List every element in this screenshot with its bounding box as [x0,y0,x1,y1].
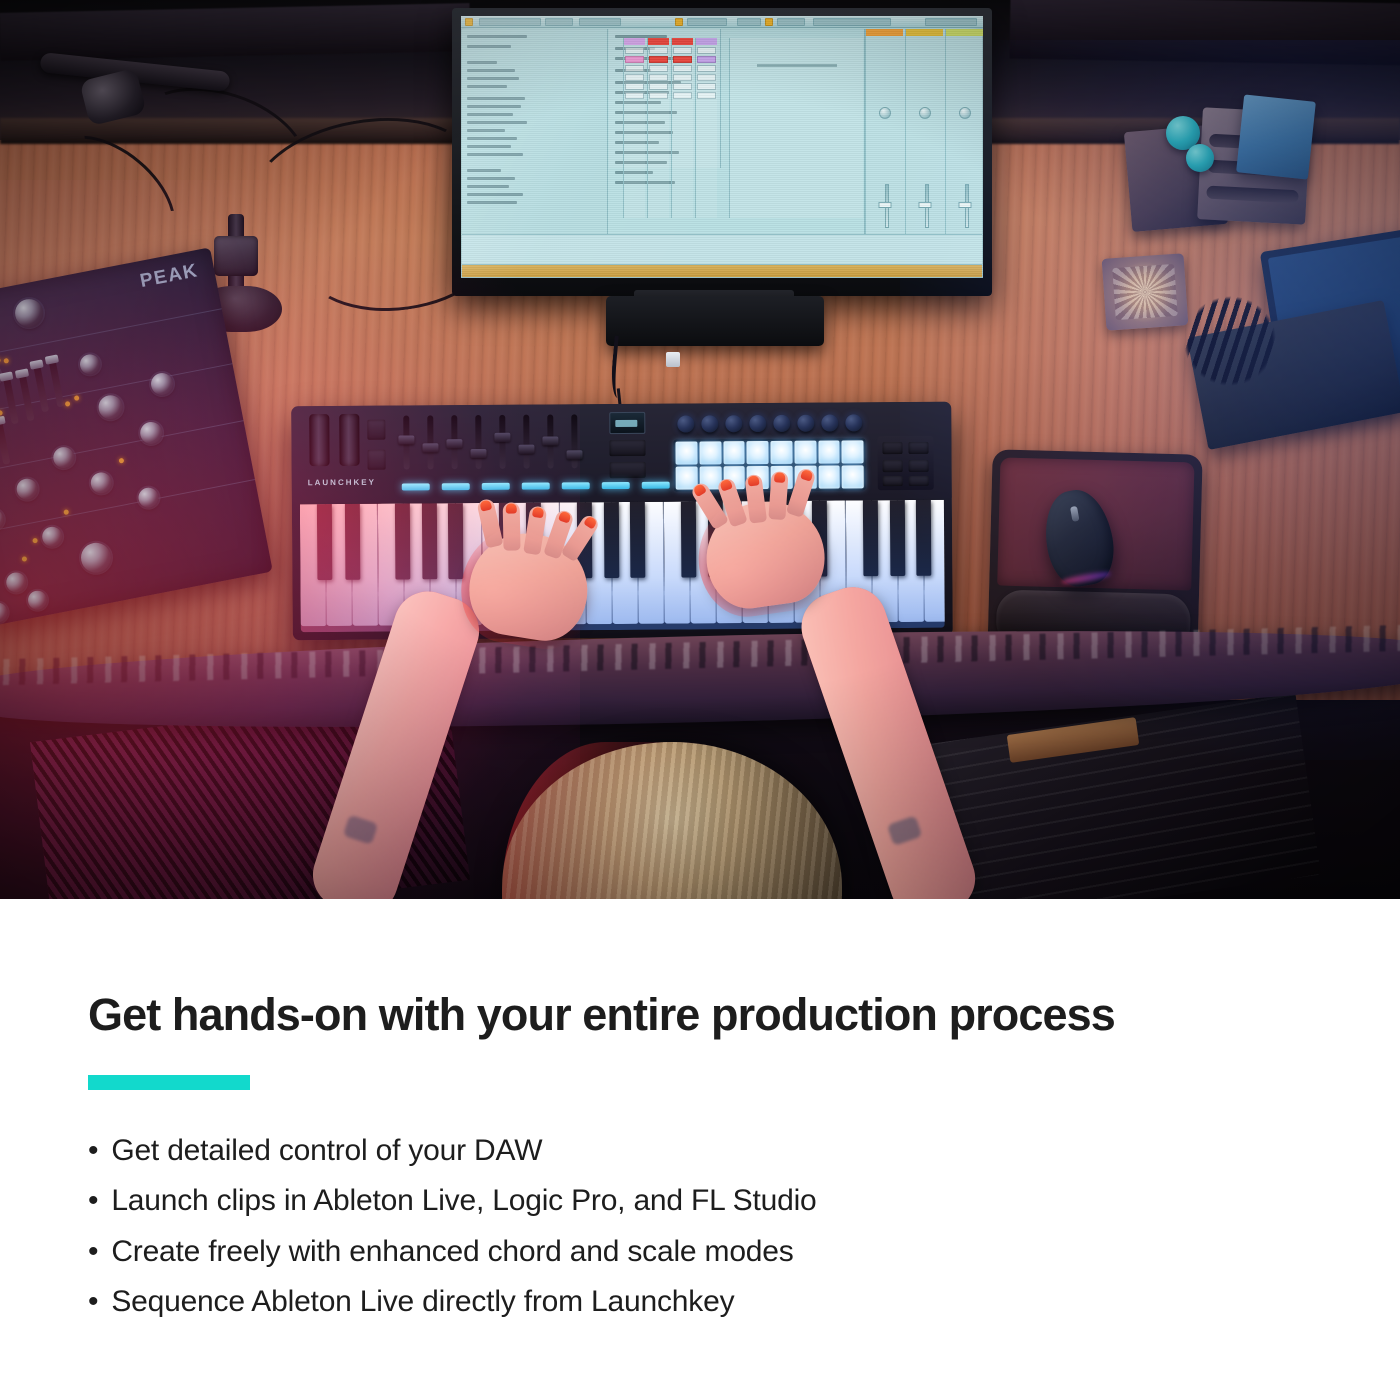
accent-rule [88,1075,250,1090]
pad-4 [747,441,769,464]
pad-16 [842,465,864,488]
pad-5 [770,441,792,464]
knob-7 [821,414,838,431]
pad-1 [675,441,697,464]
function-button-6 [602,482,630,489]
daw-session-clip-grid [623,38,723,218]
shelf-rail-left [0,3,470,61]
pad-6 [794,441,816,464]
feature-text-block: Get hands-on with your entire production… [0,899,1400,1400]
list-item-label: Launch clips in Ableton Live, Logic Pro,… [111,1184,816,1217]
bullet-marker-icon: • [88,1235,98,1268]
launchkey-display [609,412,645,434]
list-item: •Launch clips in Ableton Live, Logic Pro… [88,1176,1288,1226]
bullet-marker-icon: • [88,1134,98,1167]
knob-8 [845,414,862,431]
pad-2 [699,441,721,464]
feature-bullet-list: •Get detailed control of your DAW •Launc… [88,1126,1288,1328]
list-item: •Get detailed control of your DAW [88,1126,1288,1176]
list-item: •Create freely with enhanced chord and s… [88,1227,1288,1277]
monitor-stand-base [606,296,824,346]
knob-5 [773,415,790,432]
knob-3 [725,415,742,432]
daw-top-toolbar [461,16,983,28]
page-title: Get hands-on with your entire production… [88,991,1338,1039]
product-feature-panel: PEAK [0,0,1400,1400]
knob-4 [749,415,766,432]
bullet-marker-icon: • [88,1285,98,1318]
blue-light-wash [900,40,1400,760]
knob-2 [701,415,718,432]
transport-play-button [609,440,645,456]
pad-7 [818,440,840,463]
bullet-marker-icon: • [88,1184,98,1217]
pad-15 [818,465,840,488]
list-item-label: Get detailed control of your DAW [111,1134,542,1167]
list-item-label: Sequence Ableton Live directly from Laun… [111,1285,734,1318]
cable-label-tag [666,352,680,367]
pad-3 [723,441,745,464]
knob-6 [797,415,814,432]
knob-1 [677,415,694,432]
list-item: •Sequence Ableton Live directly from Lau… [88,1277,1288,1327]
daw-arrangement-area [729,38,863,218]
transport-record-button [610,462,646,478]
function-button-7 [642,482,670,489]
hero-photo: PEAK [0,0,1400,899]
list-item-label: Create freely with enhanced chord and sc… [111,1235,793,1268]
pad-8 [842,440,864,463]
